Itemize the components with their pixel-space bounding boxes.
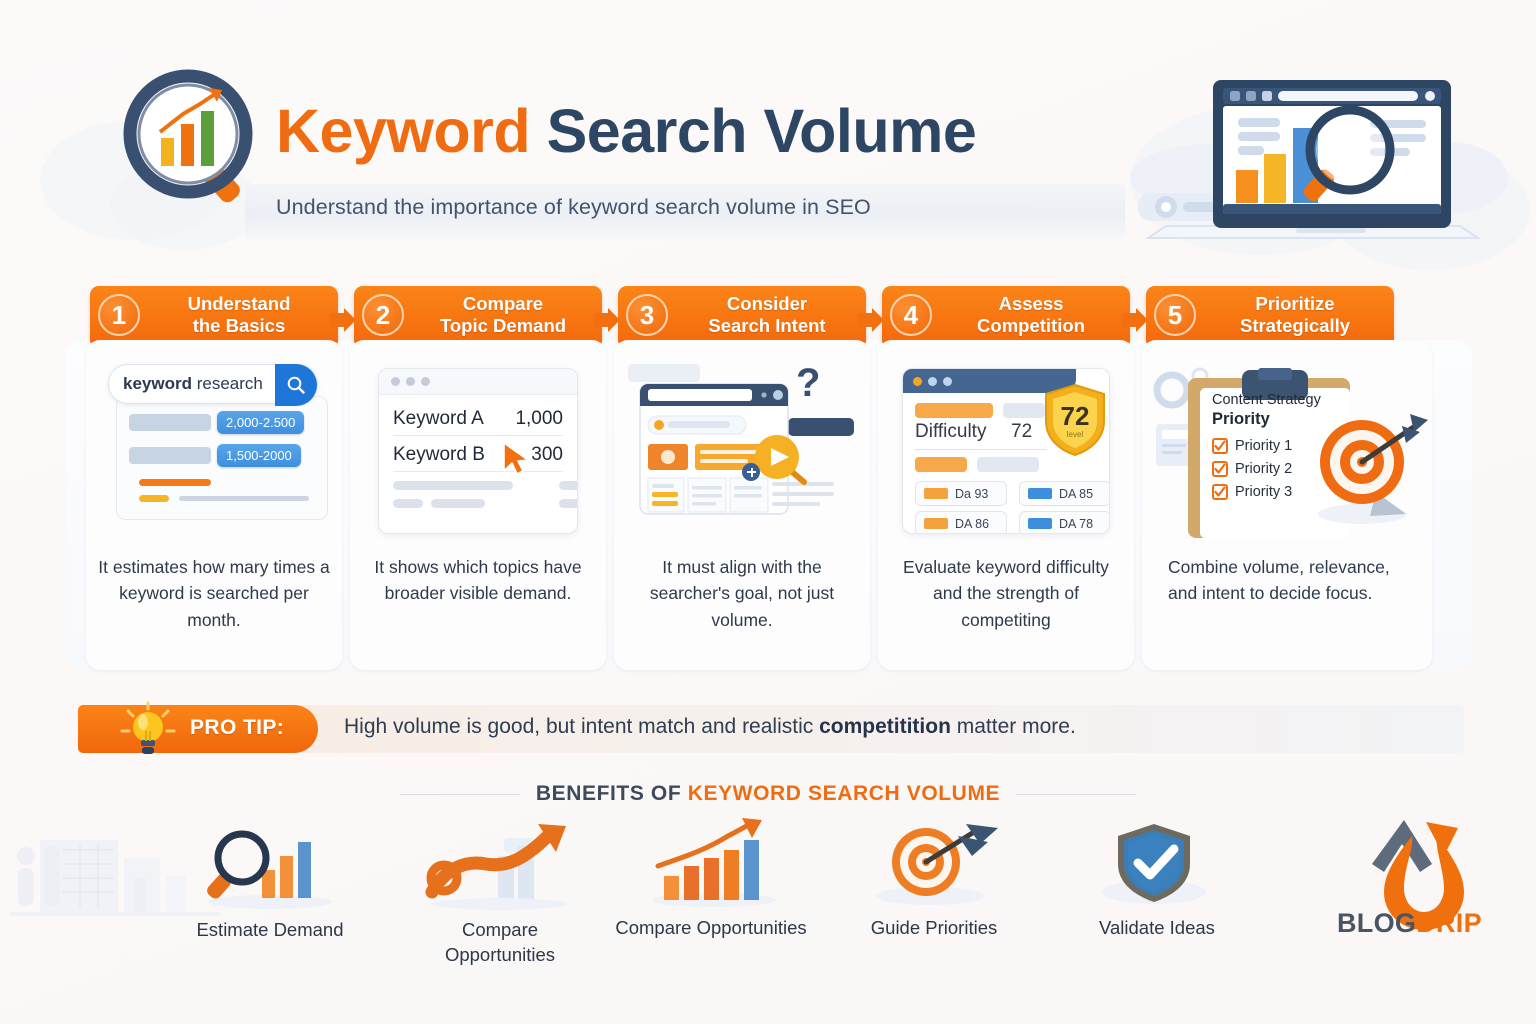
da-chip: Da 93 [915, 481, 1007, 506]
keyword-volume: 300 [531, 444, 563, 466]
chip-label: DA 85 [1059, 487, 1093, 501]
benefit-label-4: Guide Priorities [846, 916, 1022, 941]
upward-arrow-chart-icon [400, 820, 600, 912]
pro-tip-text-after: matter more. [951, 715, 1076, 738]
benefit-label-3: Compare Opportunities [596, 916, 826, 941]
priority-label: Priority 1 [1235, 438, 1292, 454]
logo-text-blog: BLOG [1337, 908, 1416, 938]
pro-tip-text-before: High volume is good, but intent match an… [344, 715, 819, 738]
pro-tip-text-bold: competitition [819, 715, 951, 738]
target-dart-icon [846, 818, 1022, 910]
benefit-item-2: Compare Opportunities [400, 820, 600, 968]
step-arrow-1-to-2 [330, 308, 356, 332]
pro-tip-banner: PRO TIP: High volume is good, but intent… [78, 705, 1464, 753]
badge-sub: level [1067, 430, 1084, 439]
difficulty-label: Difficulty [915, 421, 986, 443]
priority-label: Priority 3 [1235, 484, 1292, 500]
header: Keyword Search Volume Understand the imp… [0, 0, 1536, 262]
volume-pill: 2,000-2.500 [217, 411, 304, 434]
step-arrow-3-to-4 [858, 308, 884, 332]
question-mark-glyph: ? [796, 362, 820, 405]
metric-bar-orange [915, 457, 967, 472]
checkbox-checked-icon[interactable] [1212, 461, 1228, 477]
shield-check-icon [1078, 818, 1236, 910]
step-5-illustration: Content Strategy Priority Priority 1 Pri… [1156, 362, 1418, 542]
keyword-label: Keyword A [393, 408, 484, 430]
step-number-5: 5 [1154, 294, 1196, 336]
metric-bar-gray [977, 457, 1039, 472]
step-title-2: Compare Topic Demand [412, 293, 602, 337]
difficulty-shield-badge: 72 level [1043, 383, 1107, 457]
logo-text-drip: DRIP [1416, 908, 1482, 938]
benefits-title-orange: KEYWORD SEARCH VOLUME [688, 782, 1000, 805]
da-chip: DA 86 [915, 511, 1007, 534]
benefit-item-4: Guide Priorities [846, 818, 1022, 941]
progress-bar-gray [179, 496, 309, 501]
priority-label: Priority 2 [1235, 461, 1292, 477]
pro-tip-label: PRO TIP: [190, 716, 284, 740]
step-number-1: 1 [98, 294, 140, 336]
check-icon [1214, 486, 1226, 498]
growth-bar-chart-icon [596, 818, 826, 910]
page-title-rest: Search Volume [547, 97, 977, 165]
step-3-illustration: ? [628, 362, 856, 542]
window-dot [913, 377, 922, 386]
step-header-5[interactable]: 5 Prioritize Strategically [1146, 286, 1394, 344]
metric-bar-gray [1003, 403, 1045, 418]
search-input[interactable]: keyword research [108, 364, 318, 404]
chip-label: DA 86 [955, 517, 989, 531]
window-dot [406, 377, 415, 386]
step-2-illustration: Keyword A 1,000 Keyword B 300 [364, 362, 592, 542]
progress-bar-yellow [139, 495, 169, 502]
keyword-volume: 1,000 [515, 408, 563, 430]
difficulty-value: 72 [1011, 421, 1032, 443]
step-1-illustration: keyword research 2,000-2.500 1,500-2000 [100, 362, 328, 542]
benefit-item-3: Compare Opportunities [596, 818, 826, 941]
mini-browser-window: Difficulty 72 Da 93 DA 85 DA 86 DA 78 [902, 368, 1110, 534]
step-4-illustration: Difficulty 72 Da 93 DA 85 DA 86 DA 78 [892, 362, 1120, 542]
step-title-1: Understand the Basics [148, 293, 338, 337]
step-number-3: 3 [626, 294, 668, 336]
target-dart-icon [1310, 410, 1428, 528]
check-icon [1214, 463, 1226, 475]
volume-pill: 1,500-2000 [217, 444, 301, 467]
step-2-description: It shows which topics have broader visib… [362, 554, 594, 607]
step-card-2[interactable]: Keyword A 1,000 Keyword B 300 It shows w… [350, 340, 606, 670]
skeleton-line [559, 481, 578, 490]
chip-label: Da 93 [955, 487, 988, 501]
benefit-label-1: Estimate Demand [170, 918, 370, 943]
step-header-3[interactable]: 3 Consider Search Intent [618, 286, 866, 344]
benefit-item-1: Estimate Demand [170, 820, 370, 943]
skeleton-line [393, 499, 423, 508]
logo-text: BLOGDRIP [1337, 908, 1482, 939]
window-dot [928, 377, 937, 386]
search-button[interactable] [275, 364, 317, 406]
step-title-5: Prioritize Strategically [1204, 293, 1394, 337]
step-arrow-4-to-5 [1122, 308, 1148, 332]
skeleton-line [431, 499, 485, 508]
step-header-4[interactable]: 4 Assess Competition [882, 286, 1130, 344]
chip-label: DA 78 [1059, 517, 1093, 531]
magnifier-bar-chart-icon [108, 66, 268, 226]
pro-tip-tab: PRO TIP: [78, 705, 318, 753]
chip-swatch [1028, 518, 1052, 529]
chip-swatch [924, 488, 948, 499]
benefit-label-2: Compare Opportunities [400, 918, 600, 968]
step-header-1[interactable]: 1 Understand the Basics [90, 286, 338, 344]
step-1-description: It estimates how mary times a keyword is… [98, 554, 330, 633]
skeleton-line [393, 481, 513, 490]
result-skeleton [129, 414, 211, 431]
step-number-2: 2 [362, 294, 404, 336]
page-title: Keyword Search Volume [276, 96, 976, 166]
benefits-title-row: BENEFITS OF KEYWORD SEARCH VOLUME [0, 782, 1536, 806]
benefit-label-5: Validate Ideas [1078, 916, 1236, 941]
progress-bar-orange [139, 479, 211, 486]
result-skeleton [129, 447, 211, 464]
divider-line [1016, 794, 1136, 795]
step-3-description: It must align with the searcher's goal, … [626, 554, 858, 633]
page-title-keyword: Keyword [276, 97, 530, 165]
da-chip: DA 85 [1019, 481, 1110, 506]
page-subtitle: Understand the importance of keyword sea… [276, 195, 871, 220]
benefits-title-gray: BENEFITS OF [536, 782, 688, 805]
search-input-value: keyword research [123, 374, 263, 394]
step-card-5[interactable]: Content Strategy Priority Priority 1 Pri… [1142, 340, 1432, 670]
badge-value: 72 [1061, 401, 1090, 431]
lightbulb-icon [120, 701, 176, 757]
keyword-row: Keyword A 1,000 [393, 403, 563, 436]
result-row: 1,500-2000 [129, 444, 301, 467]
window-dot [421, 377, 430, 386]
divider [915, 449, 1047, 450]
clipboard-title-line1: Content Strategy [1212, 392, 1352, 409]
da-chip: DA 78 [1019, 511, 1110, 534]
chip-swatch [924, 518, 948, 529]
keyword-row: Keyword B 300 [393, 439, 563, 472]
step-4-description: Evaluate keyword difficulty and the stre… [890, 554, 1122, 633]
chip-swatch [1028, 488, 1052, 499]
pro-tip-text: High volume is good, but intent match an… [344, 715, 1076, 739]
step-header-2[interactable]: 2 Compare Topic Demand [354, 286, 602, 344]
mini-browser-window: Keyword A 1,000 Keyword B 300 [378, 368, 578, 534]
window-dot [391, 377, 400, 386]
step-5-description: Combine volume, relevance, and intent to… [1168, 554, 1420, 607]
check-icon [1214, 440, 1226, 452]
step-card-1[interactable]: keyword research 2,000-2.500 1,500-2000 … [86, 340, 342, 670]
search-icon [286, 375, 306, 395]
magnifier-bar-chart-icon [170, 820, 370, 912]
skeleton-line [559, 499, 578, 508]
metric-bar-orange [915, 403, 993, 418]
laptop-analytics-magnifier-icon [1118, 58, 1508, 258]
volume-results-panel: 2,000-2.500 1,500-2000 [116, 396, 328, 520]
window-dot [943, 377, 952, 386]
step-card-4[interactable]: Difficulty 72 Da 93 DA 85 DA 86 DA 78 [878, 340, 1134, 670]
step-title-3: Consider Search Intent [676, 293, 866, 337]
step-number-4: 4 [890, 294, 932, 336]
result-row: 2,000-2.500 [129, 411, 304, 434]
step-arrow-2-to-3 [594, 308, 620, 332]
mouse-cursor-icon [501, 441, 533, 477]
benefit-item-5: Validate Ideas [1078, 818, 1236, 941]
checkbox-checked-icon[interactable] [1212, 484, 1228, 500]
divider-line [400, 794, 520, 795]
checkbox-checked-icon[interactable] [1212, 438, 1228, 454]
search-intent-illustration: ? [628, 362, 856, 542]
benefits-title: BENEFITS OF KEYWORD SEARCH VOLUME [536, 782, 1000, 806]
step-title-4: Assess Competition [940, 293, 1130, 337]
keyword-label: Keyword B [393, 444, 485, 466]
window-titlebar [379, 369, 577, 395]
step-card-3[interactable]: ? [614, 340, 870, 670]
